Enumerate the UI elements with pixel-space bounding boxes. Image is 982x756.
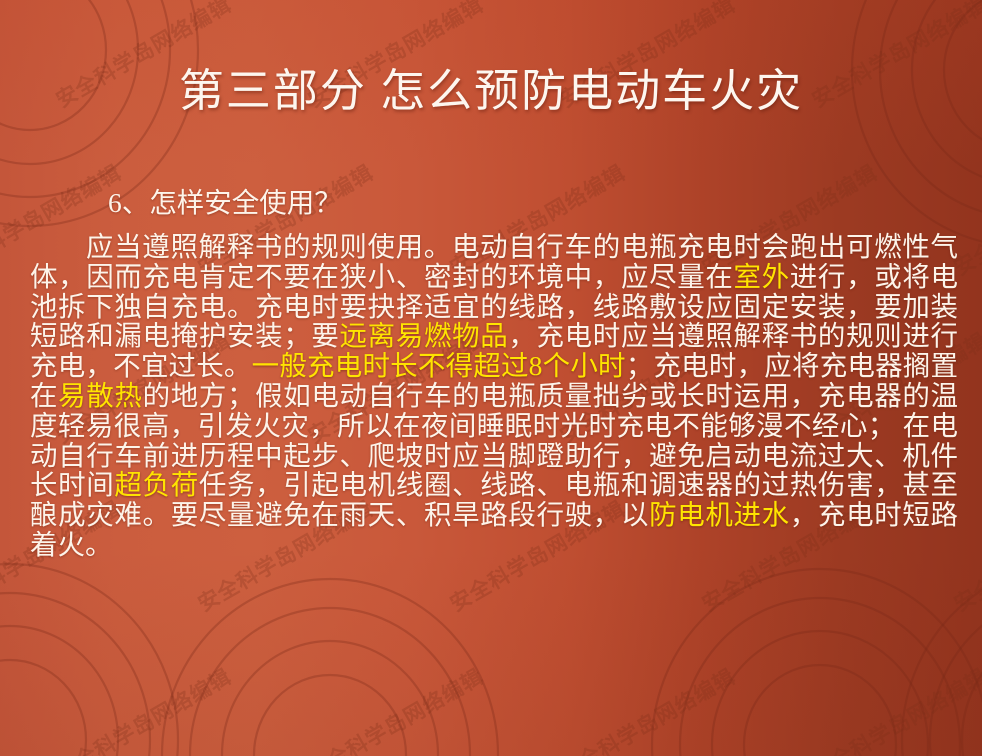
body-paragraph: 应当遵照解释书的规则使用。电动自行车的电瓶充电时会跑出可燃性气体，因而充电肯定不… [30,232,958,560]
page-title: 第三部分 怎么预防电动车火灾 [0,54,982,119]
presentation-slide: 安全科学岛网络编辑安全科学岛网络编辑安全科学岛网络编辑安全科学岛网络编辑安全科学… [0,0,982,756]
highlighted-text: 超负荷 [114,469,198,500]
highlighted-text: 一般充电时长不得超过8个小时 [252,350,626,381]
highlighted-text: 防电机进水 [649,499,790,530]
section-subheading: 6、怎样安全使用？ [30,186,958,220]
highlighted-text: 易散热 [58,380,142,411]
highlighted-text: 远离易燃物品 [340,320,509,351]
slide-body: 6、怎样安全使用？ 应当遵照解释书的规则使用。电动自行车的电瓶充电时会跑出可燃性… [30,186,958,560]
highlighted-text: 室外 [734,261,790,292]
